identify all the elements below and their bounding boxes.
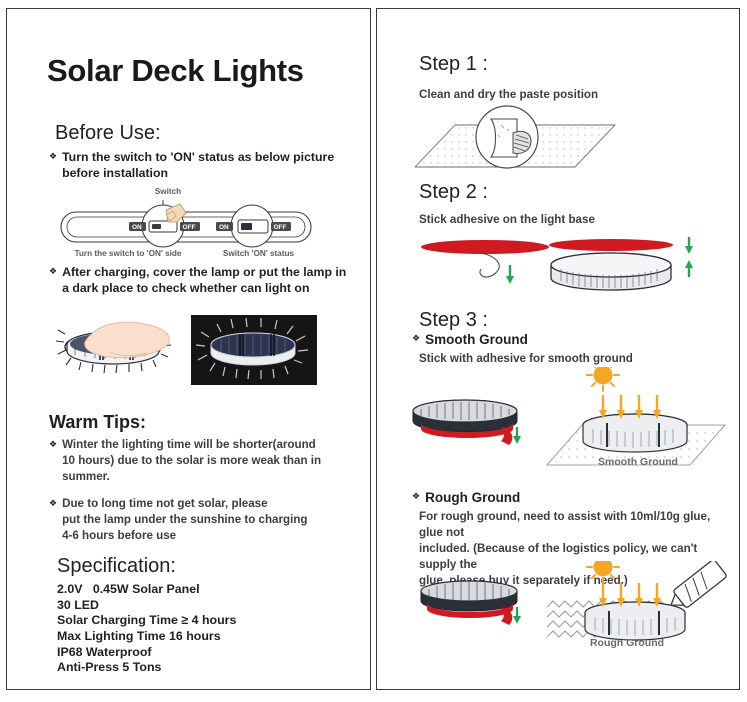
sun-icon (587, 561, 619, 583)
bullet-icon: ❖ (412, 332, 420, 346)
before-use-bullet-2: ❖ After charging, cover the lamp or put … (49, 264, 354, 297)
spec-line: Anti-Press 5 Tons (57, 660, 236, 676)
switch-diagram-label: Switch (138, 187, 198, 196)
green-arrow-down-icon (513, 607, 521, 624)
manual-page: Solar Deck Lights Before Use: ❖ Turn the… (0, 0, 747, 702)
step-2-illustration (415, 231, 705, 298)
step-1-heading: Step 1 : (419, 53, 488, 76)
page-title: Solar Deck Lights (47, 53, 370, 89)
spec-line: IP68 Waterproof (57, 645, 236, 661)
svg-text:OFF: OFF (274, 224, 287, 231)
smooth-ground-caption: Smooth Ground (573, 456, 703, 468)
before-use-bullet-2-text: After charging, cover the lamp or put th… (62, 264, 346, 297)
bullet-icon: ❖ (49, 497, 57, 511)
rough-ground-label: Rough Ground (425, 489, 520, 507)
specification-list: 2.0V 0.45W Solar Panel 30 LED Solar Char… (57, 582, 236, 676)
bullet-icon: ❖ (49, 265, 57, 279)
rough-ground-illustration (407, 561, 727, 671)
rough-ground-label-row: ❖ Rough Ground (412, 489, 520, 507)
left-panel: Solar Deck Lights Before Use: ❖ Turn the… (6, 8, 371, 690)
step-2-subtitle: Stick adhesive on the light base (419, 212, 595, 228)
spec-line: 30 LED (57, 598, 236, 614)
green-arrow-up-down-icon (685, 237, 693, 277)
spec-line: Max Lighting Time 16 hours (57, 629, 236, 645)
green-arrow-down-icon (506, 265, 514, 284)
warm-tips-bullet-2-text: Due to long time not get solar, please p… (62, 496, 307, 544)
specification-heading: Specification: (57, 555, 176, 578)
lamp-covered-illustration (55, 312, 180, 389)
right-panel: Step 1 : Clean and dry the paste positio… (376, 8, 740, 690)
before-use-heading-wrap: Before Use: (55, 122, 161, 145)
warm-tips-heading-text: Warm Tips: (49, 412, 146, 432)
svg-text:ON: ON (132, 224, 142, 231)
step-3-heading-text: Step 3 : (419, 309, 488, 331)
step-1-heading-text: Step 1 : (419, 53, 488, 75)
warm-tips-heading: Warm Tips: (49, 412, 146, 433)
switch-caption-left: Turn the switch to 'ON' side (63, 249, 193, 258)
spec-line: 2.0V 0.45W Solar Panel (57, 582, 236, 598)
warm-tips-bullet-1: ❖ Winter the lighting time will be short… (49, 437, 349, 485)
before-use-bullet-1-text: Turn the switch to 'ON' status as below … (62, 149, 334, 182)
svg-text:OFF: OFF (183, 224, 196, 231)
rough-ground-caption: Rough Ground (562, 637, 692, 649)
step-2-heading: Step 2 : (419, 181, 488, 204)
bullet-icon: ❖ (49, 438, 57, 452)
warm-tips-bullet-2: ❖ Due to long time not get solar, please… (49, 496, 354, 544)
green-arrow-down-icon (513, 427, 521, 444)
switch-diagram-illustration: ON OFF ON OFF (53, 198, 328, 256)
step-1-subtitle: Clean and dry the paste position (419, 87, 598, 103)
bullet-icon: ❖ (49, 150, 57, 164)
svg-text:ON: ON (219, 224, 229, 231)
step-1-illustration (415, 105, 635, 178)
before-use-heading: Before Use: (55, 122, 161, 145)
lamp-lit-dark-illustration (191, 315, 317, 385)
switch-diagram: Switch ON OFF (53, 187, 328, 257)
switch-caption-right: Switch 'ON' status (201, 249, 316, 258)
smooth-ground-label: Smooth Ground (425, 331, 528, 349)
bullet-icon: ❖ (412, 490, 420, 504)
step-2-heading-text: Step 2 : (419, 181, 488, 203)
smooth-ground-subtitle: Stick with adhesive for smooth ground (419, 351, 633, 367)
warm-tips-bullet-1-text: Winter the lighting time will be shorter… (62, 437, 321, 485)
sun-icon (587, 367, 619, 391)
step-3-heading: Step 3 : (419, 309, 488, 332)
spec-line: Solar Charging Time ≥ 4 hours (57, 613, 236, 629)
before-use-bullet-1: ❖ Turn the switch to 'ON' status as belo… (49, 149, 349, 182)
specification-heading-text: Specification: (57, 555, 176, 577)
smooth-ground-label-row: ❖ Smooth Ground (412, 331, 528, 349)
